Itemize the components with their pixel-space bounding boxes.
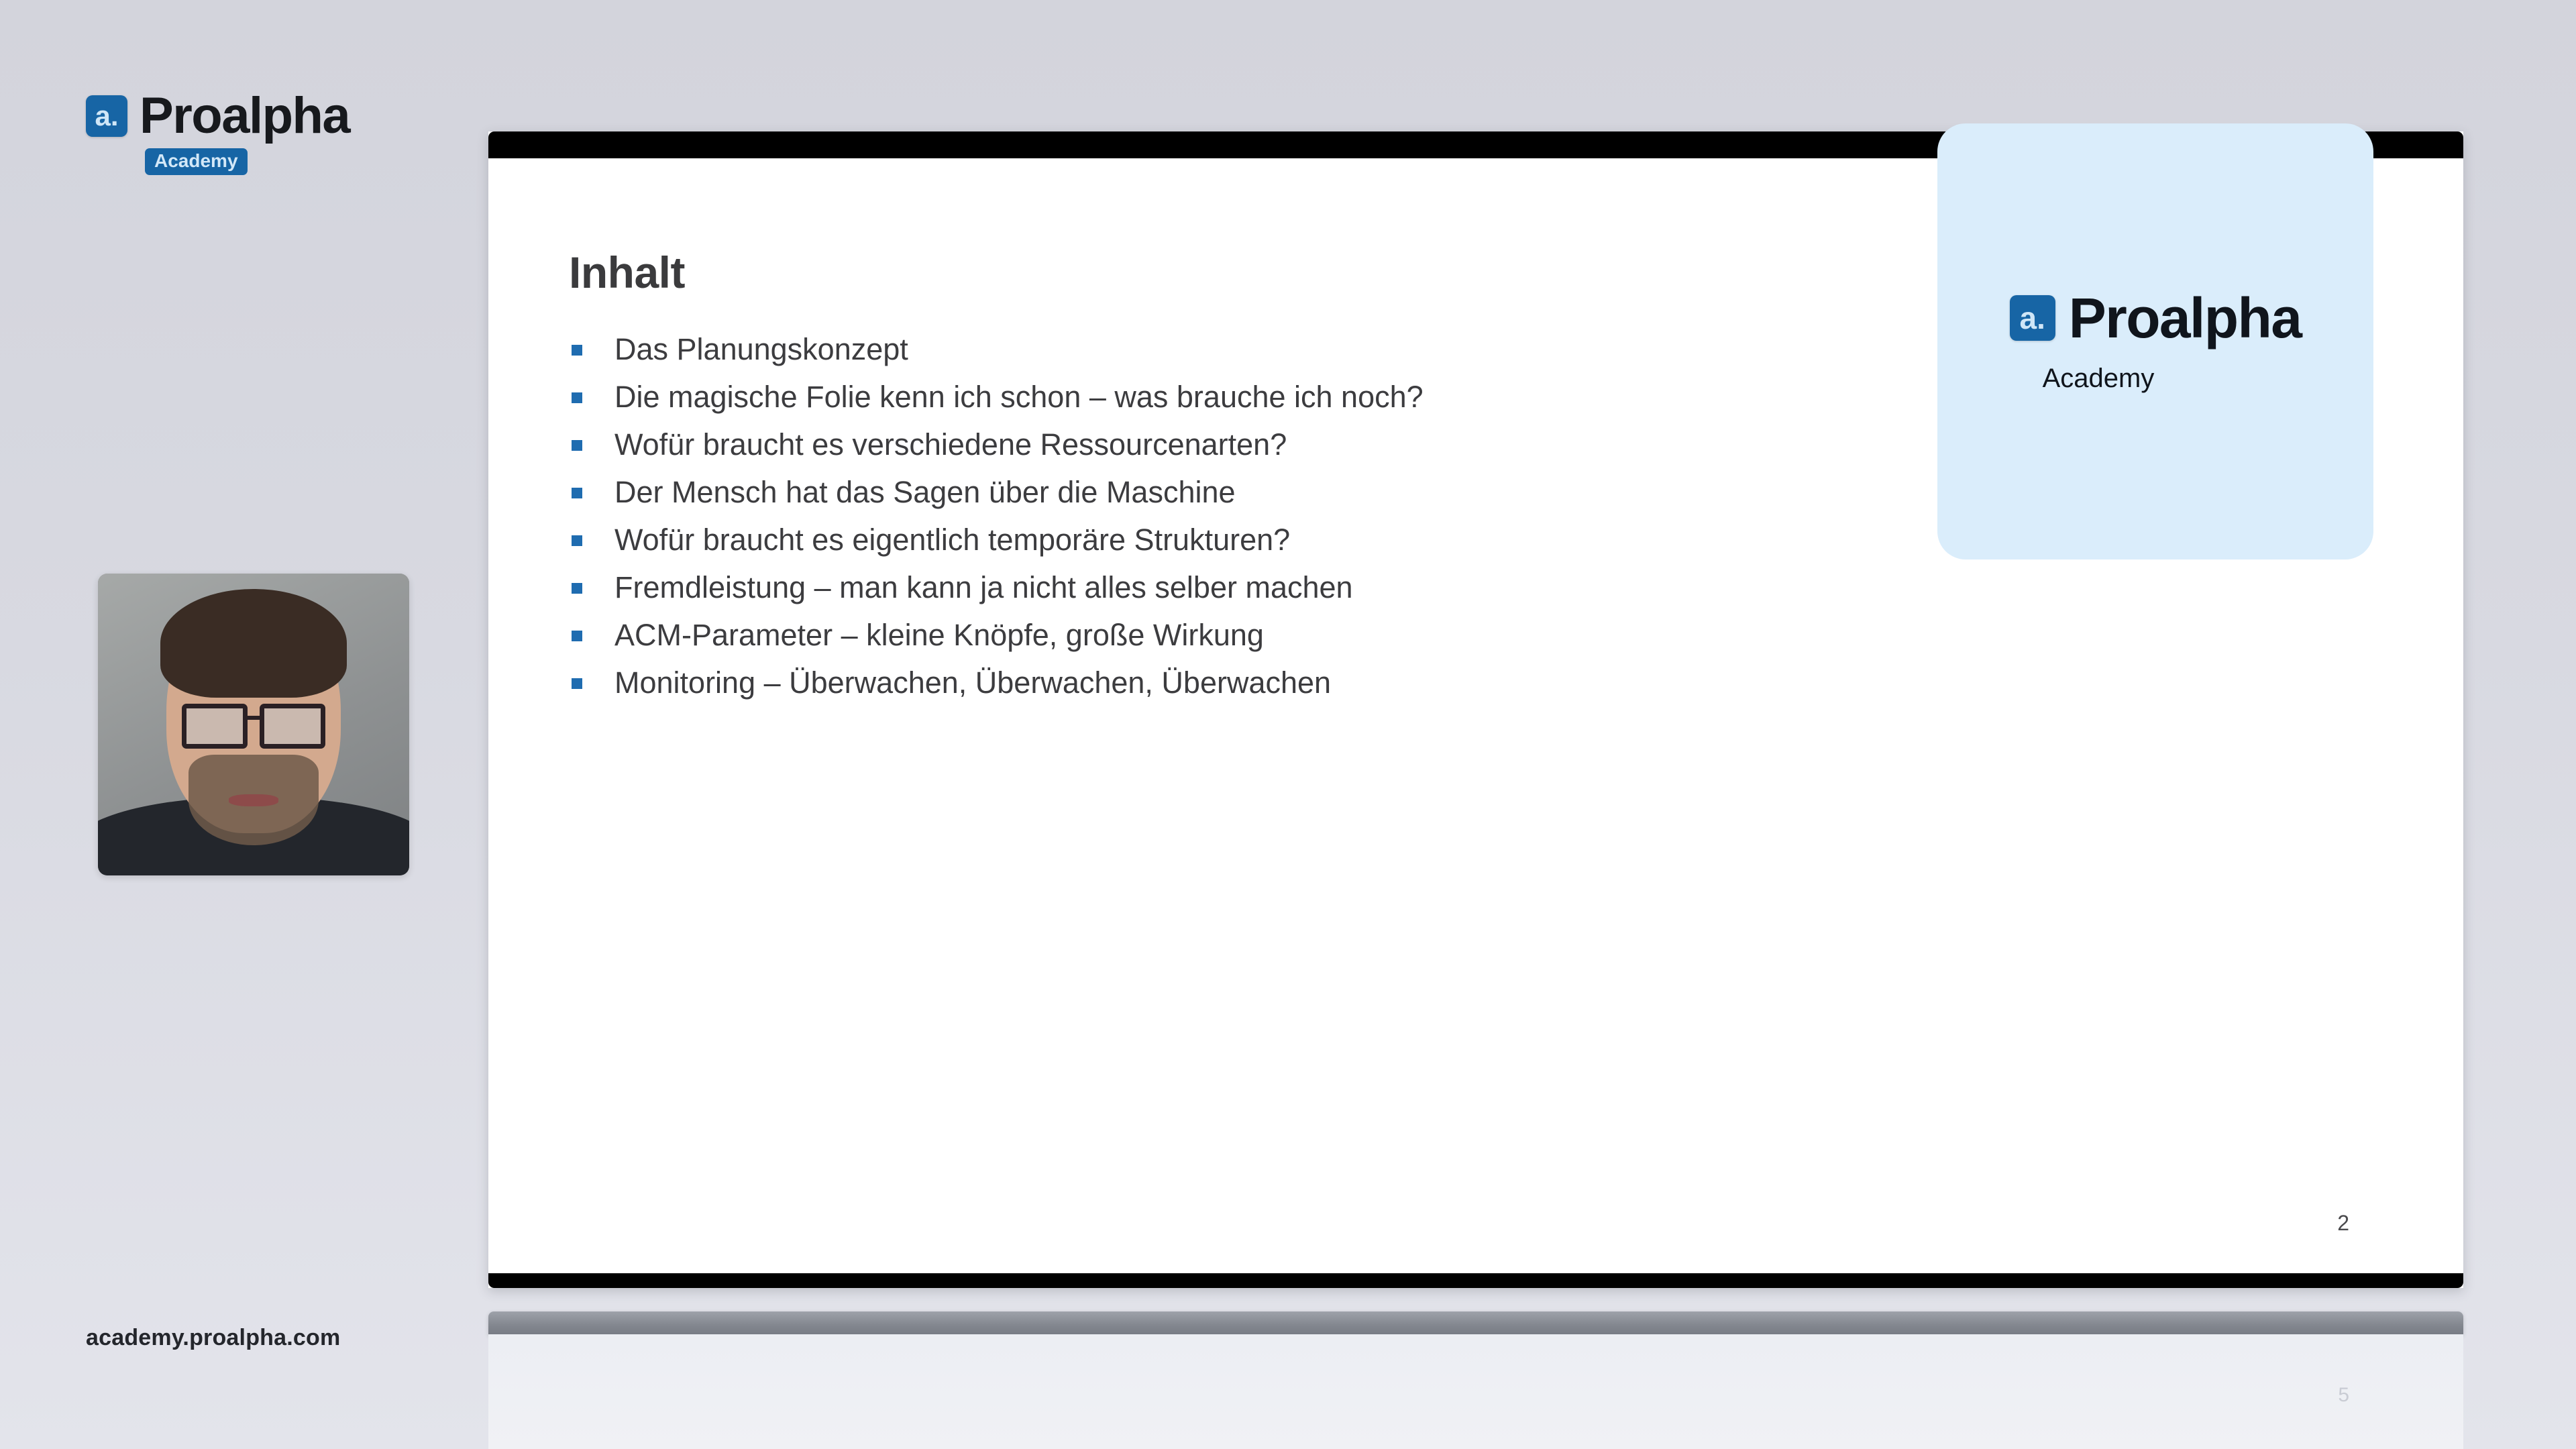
list-item: Wofür braucht es eigentlich temporäre St… xyxy=(572,521,1424,568)
left-rail: a. Proalpha Academy academy.proalpha.com xyxy=(0,0,488,1449)
card-academy-label: Academy xyxy=(2043,364,2155,394)
eyeglasses-left-lens-icon xyxy=(182,704,247,749)
card-brand-name: Proalpha xyxy=(2069,290,2302,346)
presenter-mouth xyxy=(229,794,278,806)
list-item-label: Monitoring – Überwachen, Überwachen, Übe… xyxy=(614,663,1331,702)
slide-next-preview[interactable]: 5 xyxy=(488,1311,2463,1449)
list-item-label: Fremdleistung – man kann ja nicht alles … xyxy=(614,568,1353,607)
academy-url-label: academy.proalpha.com xyxy=(86,1325,340,1351)
list-item: Das Planungskonzept xyxy=(572,330,1424,378)
list-item: Die magische Folie kenn ich schon – was … xyxy=(572,378,1424,425)
next-slide-page-number: 5 xyxy=(2338,1384,2349,1407)
square-bullet-icon xyxy=(572,583,582,594)
list-item: Wofür braucht es verschiedene Ressourcen… xyxy=(572,425,1424,473)
list-item-label: ACM-Parameter – kleine Knöpfe, große Wir… xyxy=(614,616,1264,655)
card-brand-row: a. Proalpha xyxy=(2010,290,2302,346)
proalpha-mark-icon: a. xyxy=(86,95,127,137)
eyeglasses-right-lens-icon xyxy=(260,704,325,749)
square-bullet-icon xyxy=(572,392,582,403)
square-bullet-icon xyxy=(572,488,582,498)
list-item: Der Mensch hat das Sagen über die Maschi… xyxy=(572,473,1424,521)
list-item: ACM-Parameter – kleine Knöpfe, große Wir… xyxy=(572,616,1424,663)
slide-bottom-bar xyxy=(488,1273,2463,1288)
list-item-label: Das Planungskonzept xyxy=(614,330,908,369)
next-slide-top-bar xyxy=(488,1311,2463,1334)
slide-current[interactable]: Inhalt Das Planungskonzept Die magische … xyxy=(488,131,2463,1288)
square-bullet-icon xyxy=(572,440,582,451)
slide-page-number: 2 xyxy=(2337,1211,2349,1236)
proalpha-mark-icon: a. xyxy=(2010,295,2055,341)
slide-title: Inhalt xyxy=(569,247,685,298)
list-item-label: Die magische Folie kenn ich schon – was … xyxy=(614,378,1424,417)
academy-badge: Academy xyxy=(145,148,248,175)
slide-bullet-list: Das Planungskonzept Die magische Folie k… xyxy=(572,330,1424,711)
proalpha-academy-logo-card: a. Proalpha Academy xyxy=(1937,123,2373,559)
square-bullet-icon xyxy=(572,535,582,546)
brand-logo-row: a. Proalpha xyxy=(86,91,350,142)
square-bullet-icon xyxy=(572,678,582,689)
square-bullet-icon xyxy=(572,631,582,641)
eyeglasses-bridge-icon xyxy=(248,716,260,720)
list-item: Monitoring – Überwachen, Überwachen, Übe… xyxy=(572,663,1424,711)
presenter-hair xyxy=(160,589,347,698)
list-item: Fremdleistung – man kann ja nicht alles … xyxy=(572,568,1424,616)
list-item-label: Wofür braucht es eigentlich temporäre St… xyxy=(614,521,1290,559)
list-item-label: Wofür braucht es verschiedene Ressourcen… xyxy=(614,425,1287,464)
next-slide-body: 5 xyxy=(488,1334,2463,1449)
brand-name: Proalpha xyxy=(140,91,350,142)
square-bullet-icon xyxy=(572,345,582,356)
list-item-label: Der Mensch hat das Sagen über die Maschi… xyxy=(614,473,1236,512)
presenter-webcam-thumbnail[interactable] xyxy=(98,574,409,875)
brand-logo: a. Proalpha Academy xyxy=(86,91,350,175)
